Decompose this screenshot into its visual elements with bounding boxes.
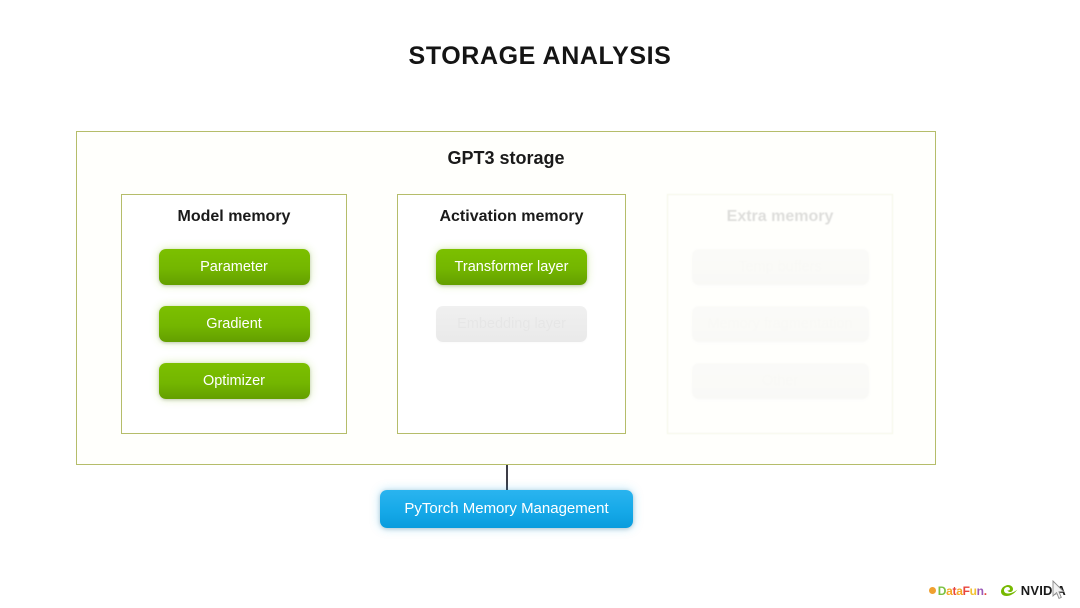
storage-container-title: GPT3 storage <box>77 148 935 169</box>
panel-title-model-memory: Model memory <box>122 208 346 226</box>
gpt3-storage-container: GPT3 storage Model memory Parameter Grad… <box>76 131 936 465</box>
panel-activation-memory: Activation memory Transformer layer Embe… <box>397 194 626 434</box>
datafun-dot-icon <box>929 587 936 594</box>
datafun-letter: . <box>984 584 987 598</box>
button-transformer-layer[interactable]: Transformer layer <box>436 249 587 285</box>
connector-line <box>506 465 508 492</box>
panel-extra-memory: Extra memory Temp buffers Memory fragmen… <box>667 194 893 434</box>
button-embedding-layer[interactable]: Embedding layer <box>436 306 587 342</box>
datafun-letter: F <box>963 584 970 598</box>
button-parameter[interactable]: Parameter <box>159 249 310 285</box>
memory-panels-row: Model memory Parameter Gradient Optimize… <box>77 194 935 438</box>
datafun-letter: u <box>970 584 977 598</box>
extra-memory-button-list: Temp buffers Memory fragmentation Other <box>668 249 892 420</box>
button-other[interactable]: Other <box>692 363 869 399</box>
button-optimizer[interactable]: Optimizer <box>159 363 310 399</box>
model-memory-button-list: Parameter Gradient Optimizer <box>122 249 346 420</box>
datafun-logo: D a t a F u n . <box>929 584 987 598</box>
panel-model-memory: Model memory Parameter Gradient Optimize… <box>121 194 347 434</box>
pytorch-memory-management-box[interactable]: PyTorch Memory Management <box>380 490 633 528</box>
activation-memory-button-list: Transformer layer Embedding layer <box>398 249 625 363</box>
datafun-letter: n <box>977 584 984 598</box>
panel-title-activation-memory: Activation memory <box>398 208 625 226</box>
datafun-letter: D <box>938 584 946 598</box>
panel-title-extra-memory: Extra memory <box>668 208 892 226</box>
nvidia-eye-icon <box>1001 584 1018 597</box>
button-gradient[interactable]: Gradient <box>159 306 310 342</box>
page-title: STORAGE ANALYSIS <box>0 42 1080 71</box>
button-memory-fragmentation[interactable]: Memory fragmentation <box>692 306 869 342</box>
footer-logos: D a t a F u n . NVIDIA <box>929 583 1066 598</box>
mouse-cursor-icon <box>1052 580 1065 600</box>
button-temp-buffers[interactable]: Temp buffers <box>692 249 869 285</box>
